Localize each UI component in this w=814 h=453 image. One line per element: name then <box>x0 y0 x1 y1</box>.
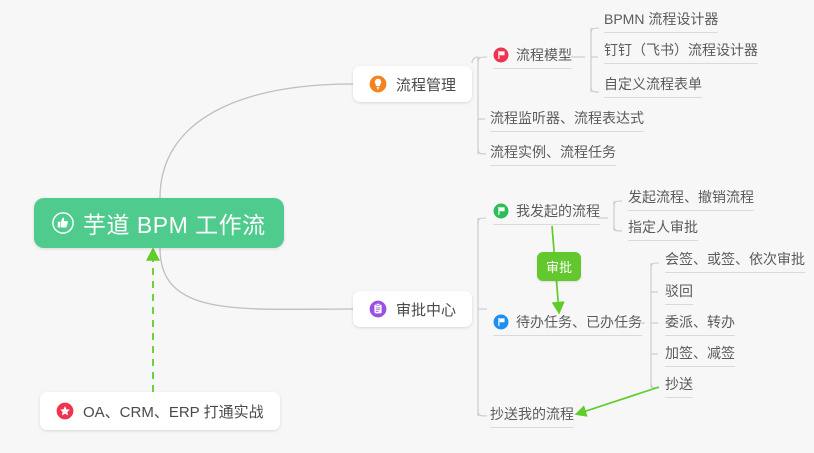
leaf-bpmn-designer[interactable]: BPMN 流程设计器 <box>604 11 718 33</box>
flag-green-icon <box>493 203 509 219</box>
leaf-label: 钉钉（飞书）流程设计器 <box>604 42 758 58</box>
leaf-my-initiated-process[interactable]: 我发起的流程 <box>493 203 600 225</box>
branch-node-process-management[interactable]: 流程管理 <box>353 66 472 102</box>
callout-label: OA、CRM、ERP 打通实战 <box>83 401 264 422</box>
leaf-label: 指定人审批 <box>628 219 698 235</box>
annotation-label: 审批 <box>546 257 572 276</box>
leaf-label: 自定义流程表单 <box>604 76 702 92</box>
root-branch-curves <box>160 84 353 309</box>
leaf-label: 驳回 <box>665 283 693 299</box>
leaf-assignee-approval[interactable]: 指定人审批 <box>628 219 698 241</box>
flag-blue-icon <box>493 314 509 330</box>
leaf-label: 发起流程、撤销流程 <box>628 189 754 205</box>
flag-red-icon <box>493 47 509 63</box>
leaf-label: 抄送我的流程 <box>490 406 574 422</box>
branch-1-1-connectors <box>571 28 599 92</box>
leaf-cc-to-me-process[interactable]: 抄送我的流程 <box>490 406 574 428</box>
thumbs-up-icon <box>52 212 74 234</box>
branch-label: 审批中心 <box>396 299 456 320</box>
branch-label: 流程管理 <box>396 74 456 95</box>
callout-node[interactable]: OA、CRM、ERP 打通实战 <box>40 392 280 430</box>
star-icon <box>56 402 74 420</box>
annotation-badge-approval: 审批 <box>537 252 581 281</box>
leaf-process-instance-task[interactable]: 流程实例、流程任务 <box>490 144 616 166</box>
leaf-label: 会签、或签、依次审批 <box>665 251 805 267</box>
leaf-custom-process-form[interactable]: 自定义流程表单 <box>604 76 702 98</box>
leaf-dingtalk-feishu-designer[interactable]: 钉钉（飞书）流程设计器 <box>604 42 758 64</box>
leaf-cc[interactable]: 抄送 <box>665 376 693 398</box>
root-label: 芋道 BPM 工作流 <box>83 206 266 240</box>
leaf-start-cancel-process[interactable]: 发起流程、撤销流程 <box>628 189 754 211</box>
branch-2-1-connectors <box>597 201 622 231</box>
leaf-label: 流程模型 <box>516 47 572 63</box>
root-node[interactable]: 芋道 BPM 工作流 <box>34 198 284 248</box>
leaf-process-listener-expression[interactable]: 流程监听器、流程表达式 <box>490 110 644 132</box>
leaf-todo-done-task[interactable]: 待办任务、已办任务 <box>493 314 642 336</box>
mindmap-canvas: 芋道 BPM 工作流 OA、CRM、ERP 打通实战 流程管理 <box>0 0 814 453</box>
branch-node-approval-center[interactable]: 审批中心 <box>353 291 472 327</box>
leaf-process-model[interactable]: 流程模型 <box>493 47 572 69</box>
leaf-label: 加签、减签 <box>665 345 735 361</box>
clipboard-icon <box>369 300 387 318</box>
leaf-add-remove-sign[interactable]: 加签、减签 <box>665 345 735 367</box>
leaf-countersign-orsign-sequential[interactable]: 会签、或签、依次审批 <box>665 251 805 273</box>
leaf-delegate-transfer[interactable]: 委派、转办 <box>665 314 735 336</box>
leaf-label: 流程监听器、流程表达式 <box>490 110 644 126</box>
leaf-label: BPMN 流程设计器 <box>604 11 718 27</box>
leaf-label: 委派、转办 <box>665 314 735 330</box>
leaf-label: 我发起的流程 <box>516 203 600 219</box>
leaf-label: 抄送 <box>665 376 693 392</box>
leaf-reject[interactable]: 驳回 <box>665 283 693 305</box>
leaf-label: 待办任务、已办任务 <box>516 314 642 330</box>
leaf-label: 流程实例、流程任务 <box>490 144 616 160</box>
lightbulb-icon <box>369 75 387 93</box>
